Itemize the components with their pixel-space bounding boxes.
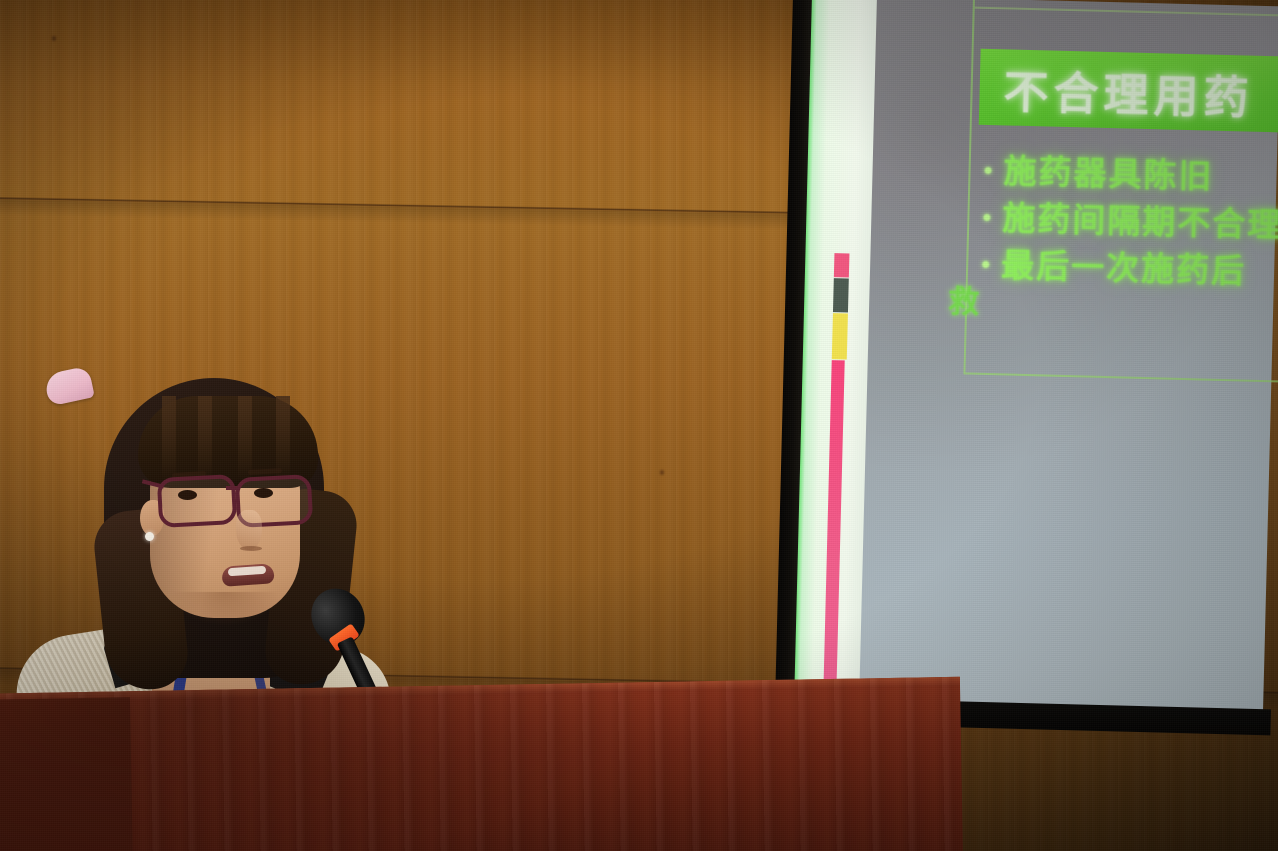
photograph-scene: 不合理用药 施药器具陈旧 施药间隔期不合理 最后一次施药后 救 xyxy=(0,0,1278,851)
nostrils xyxy=(240,546,262,551)
eye-right xyxy=(254,488,273,498)
eyeglasses-bridge xyxy=(226,486,240,490)
eyeglasses-left-lens xyxy=(157,474,238,528)
screen-noise-overlay xyxy=(794,0,1278,722)
nose xyxy=(236,510,262,550)
projection-screen: 不合理用药 施药器具陈旧 施药间隔期不合理 最后一次施药后 救 xyxy=(775,0,1278,736)
eye-left xyxy=(178,490,197,500)
lectern-shadow xyxy=(0,677,963,851)
hair-strand xyxy=(198,396,212,482)
earring xyxy=(145,532,154,541)
pink-hair-bow xyxy=(43,366,95,407)
hair-strand xyxy=(162,396,176,482)
chin-shadow xyxy=(170,592,280,626)
